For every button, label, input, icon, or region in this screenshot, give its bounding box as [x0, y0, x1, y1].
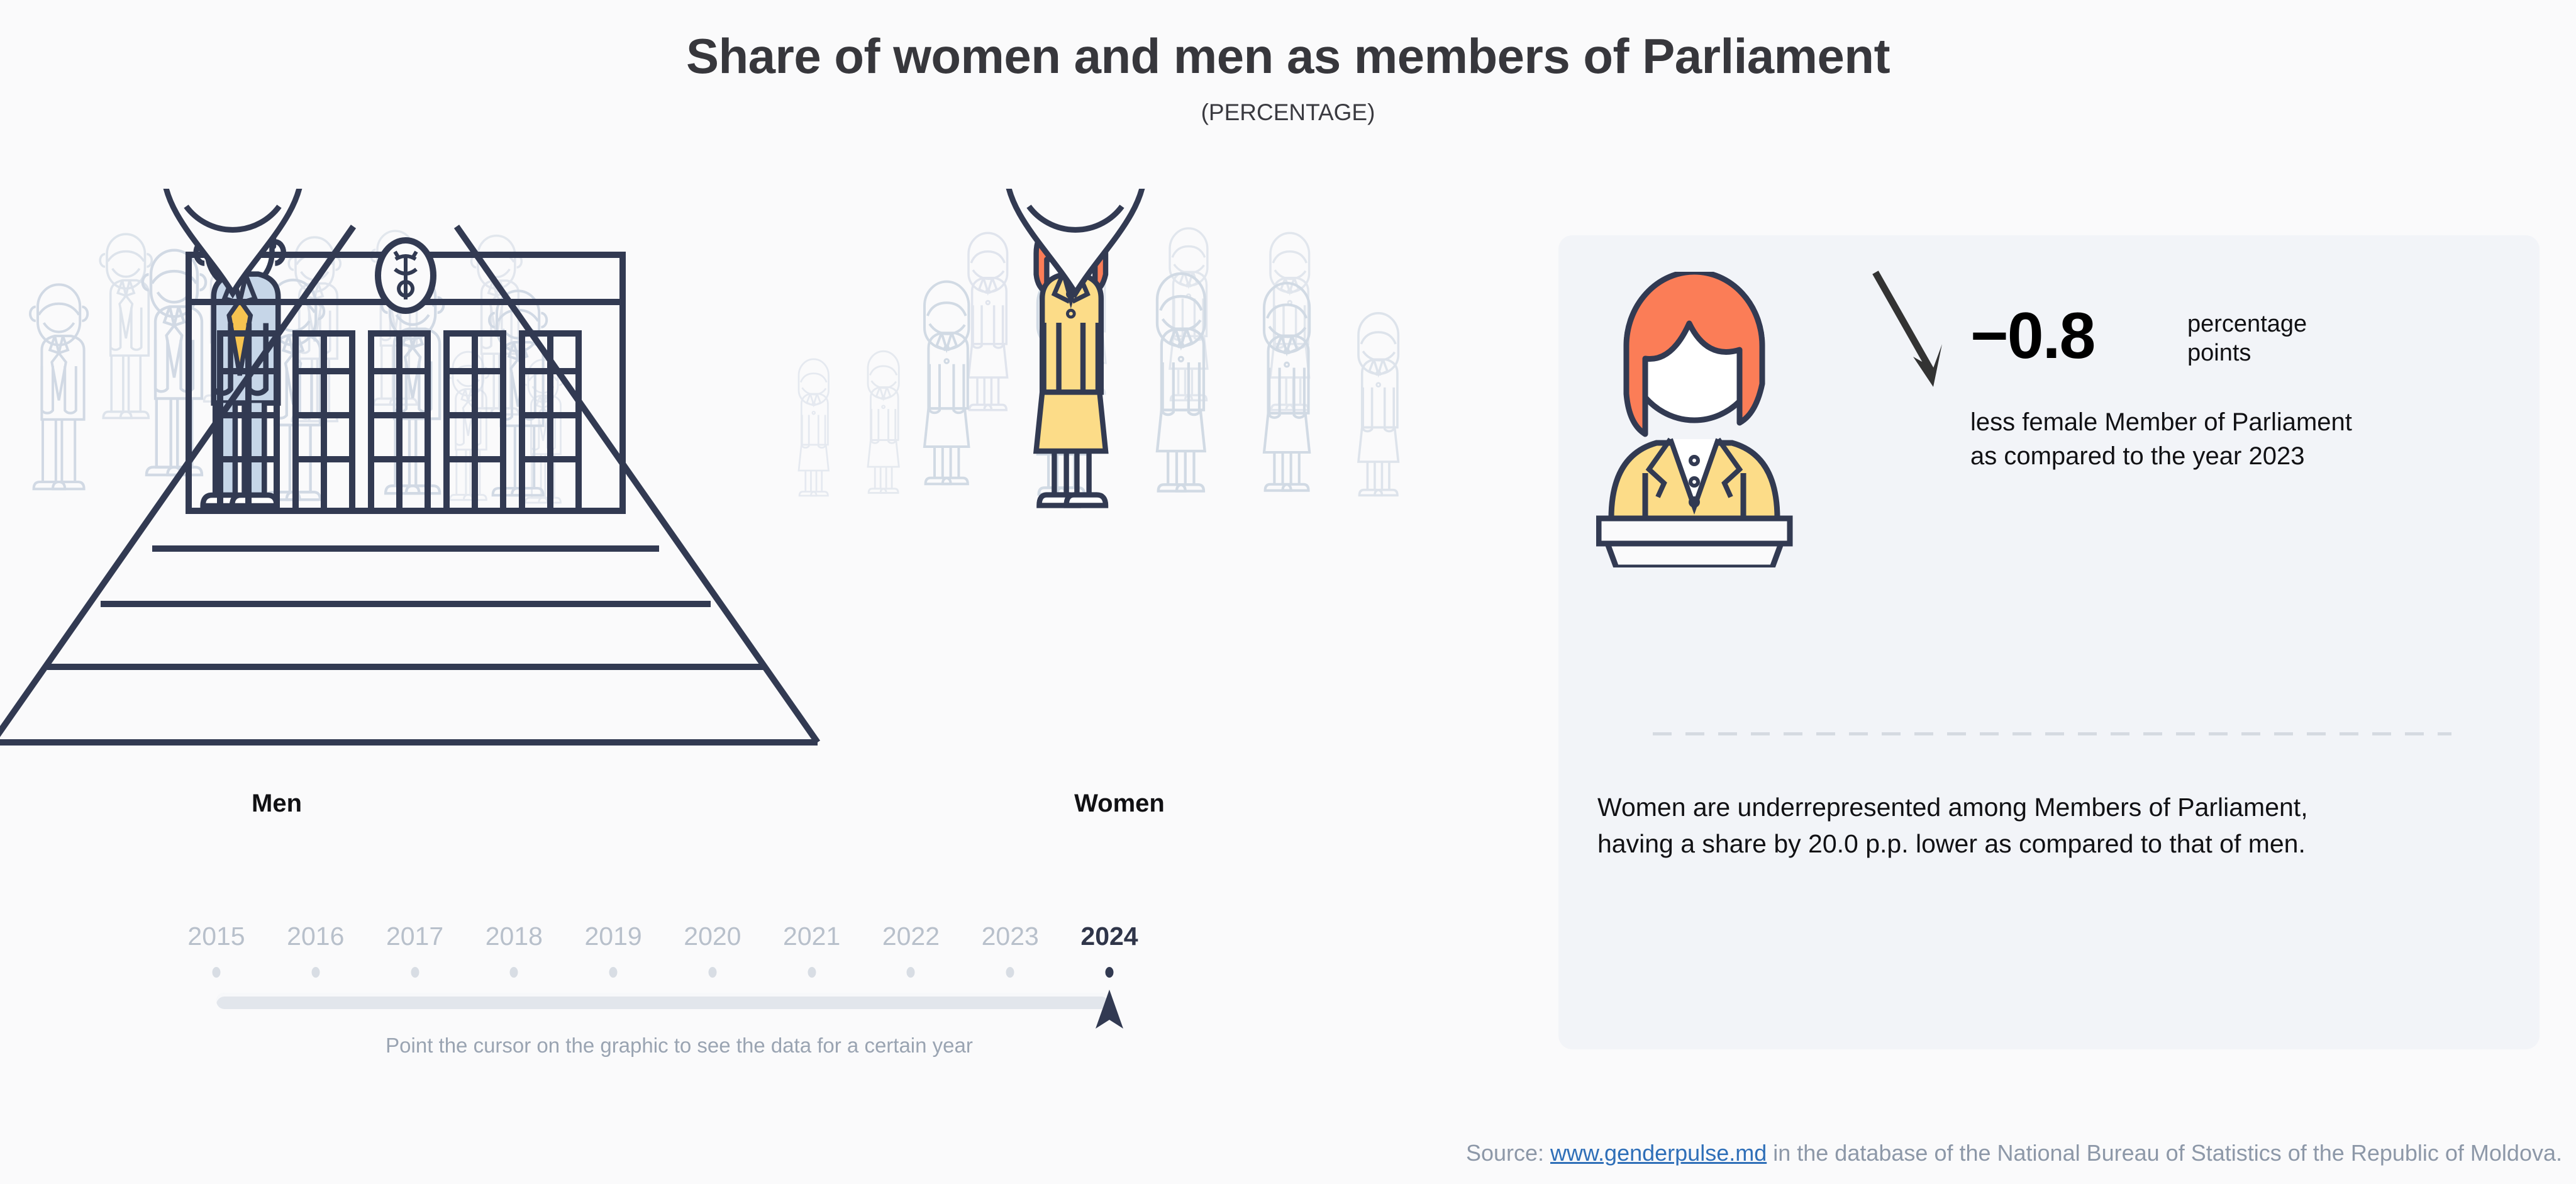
panel-divider — [1653, 732, 2451, 735]
women-percentage-pin: 40.0% — [1006, 189, 1145, 293]
page-title: Share of women and men as members of Par… — [0, 28, 2576, 85]
infographic-root: Share of women and men as members of Par… — [0, 0, 2576, 1184]
statistics-panel: −0.8 percentagepoints less female Member… — [1558, 235, 2540, 1049]
year-dot-2015[interactable] — [213, 967, 221, 978]
men-percentage-pin: 60.0% — [164, 189, 302, 293]
stat-description: less female Member of Parliament as comp… — [1970, 405, 2385, 473]
slider-track[interactable] — [216, 993, 1109, 1009]
page-subtitle: (PERCENTAGE) — [0, 99, 2576, 126]
stat-delta-value: −0.8 — [1970, 303, 2094, 369]
year-tick-2016[interactable]: 2016 — [287, 922, 344, 951]
source-line: Source: www.genderpulse.md in the databa… — [1466, 1140, 2562, 1166]
year-tick-2018[interactable]: 2018 — [486, 922, 543, 951]
women-group-label: Women — [994, 790, 1245, 818]
year-dot-2021[interactable] — [808, 967, 816, 978]
panel-note-text: Women are underrepresented among Members… — [1597, 789, 2377, 862]
people-and-parliament-illustration[interactable]: 60.0% 40.0% — [0, 189, 1522, 818]
year-dot-2020[interactable] — [708, 967, 716, 978]
year-tick-2021[interactable]: 2021 — [783, 922, 840, 951]
year-slider[interactable]: 2015201620172018201920202021202220232024… — [208, 922, 1151, 1041]
year-tick-2024[interactable]: 2024 — [1080, 922, 1138, 951]
year-tick-2023[interactable]: 2023 — [982, 922, 1039, 951]
year-tick-2022[interactable]: 2022 — [882, 922, 940, 951]
year-labels-row: 2015201620172018201920202021202220232024 — [208, 922, 1151, 959]
year-dot-2022[interactable] — [907, 967, 915, 978]
men-group-label: Men — [151, 790, 402, 818]
year-dot-2019[interactable] — [609, 967, 618, 978]
source-link[interactable]: www.genderpulse.md — [1550, 1140, 1767, 1166]
year-dot-2023[interactable] — [1006, 967, 1014, 978]
year-tick-2015[interactable]: 2015 — [187, 922, 245, 951]
female-speaker-at-podium-icon — [1596, 272, 1873, 567]
year-dot-2024[interactable] — [1106, 967, 1114, 978]
slider-hint-text: Point the cursor on the graphic to see t… — [208, 1034, 1151, 1058]
year-dot-2018[interactable] — [510, 967, 518, 978]
year-dot-2017[interactable] — [411, 967, 419, 978]
year-tick-2019[interactable]: 2019 — [585, 922, 642, 951]
year-dot-2016[interactable] — [311, 967, 319, 978]
source-suffix: in the database of the National Bureau o… — [1767, 1140, 2562, 1166]
year-tick-2017[interactable]: 2017 — [386, 922, 443, 951]
year-tick-2020[interactable]: 2020 — [684, 922, 741, 951]
slider-handle[interactable] — [1093, 987, 1126, 1035]
stat-unit-label: percentagepoints — [2187, 310, 2439, 368]
source-prefix: Source: — [1466, 1140, 1550, 1166]
